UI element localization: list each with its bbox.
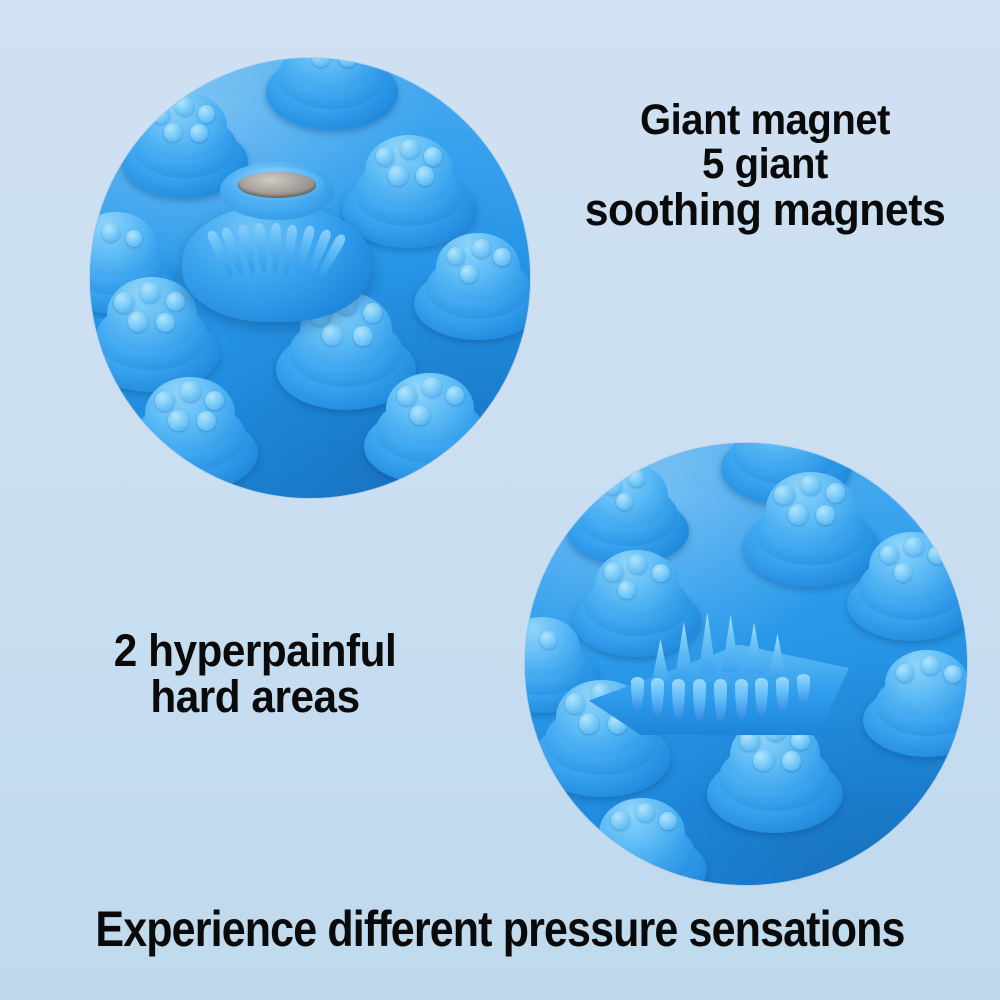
callout-bottom-line-1: Experience different pressure sensations: [70, 904, 930, 956]
giant-magnet-dome: [182, 154, 372, 322]
callout-magnet-line-1: Giant magnet: [546, 98, 983, 142]
mat-nub: [863, 643, 967, 757]
mat-nub: [122, 370, 258, 492]
mat-nub: [266, 58, 398, 130]
photo-magnet-closeup: [90, 58, 530, 498]
callout-giant-magnet: Giant magnet 5 giant soothing magnets: [530, 98, 1000, 233]
mat-nub: [414, 226, 530, 340]
callout-magnet-line-3: soothing magnets: [542, 187, 989, 233]
mat-nub: [364, 366, 496, 484]
photo-hard-area-closeup: [525, 443, 967, 885]
mat-nub: [847, 525, 967, 641]
hyperpainful-hard-area: [589, 561, 849, 735]
callout-hard-line-1: 2 hyperpainful: [34, 628, 476, 674]
infographic-page: Giant magnet 5 giant soothing magnets 2 …: [0, 0, 1000, 1000]
callout-hard-line-2: hard areas: [34, 674, 476, 720]
callout-bottom-caption: Experience different pressure sensations: [0, 904, 1000, 956]
callout-magnet-line-2: 5 giant: [546, 142, 983, 186]
mat-nub: [577, 791, 707, 885]
magnet-disc: [238, 172, 316, 197]
callout-hard-areas: 2 hyperpainful hard areas: [20, 628, 490, 721]
